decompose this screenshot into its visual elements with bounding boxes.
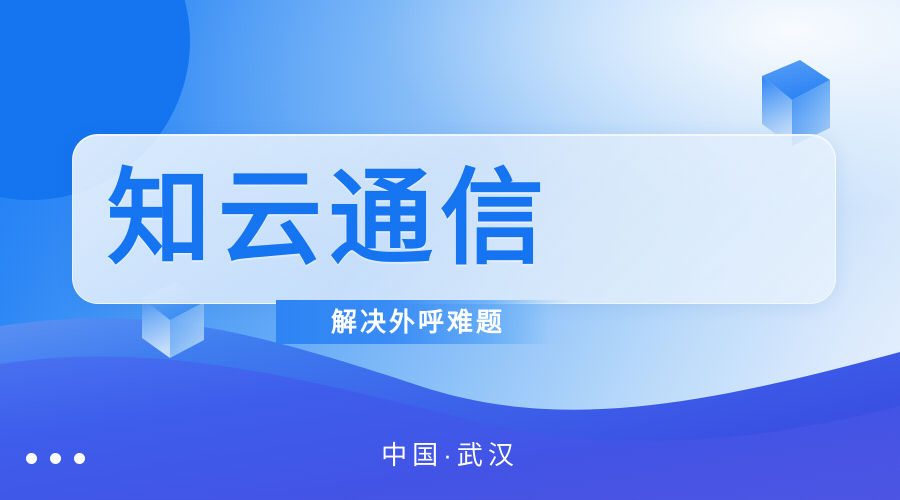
- subtitle-text: 解决外呼难题: [331, 309, 505, 335]
- page-title: 知云通信: [73, 167, 551, 271]
- location-label: 中国·武汉: [0, 442, 900, 468]
- subtitle-banner: 解决外呼难题: [276, 300, 572, 344]
- title-card: 知云通信: [72, 134, 836, 304]
- promo-banner: 知云通信 解决外呼难题 中国·武汉: [0, 0, 900, 500]
